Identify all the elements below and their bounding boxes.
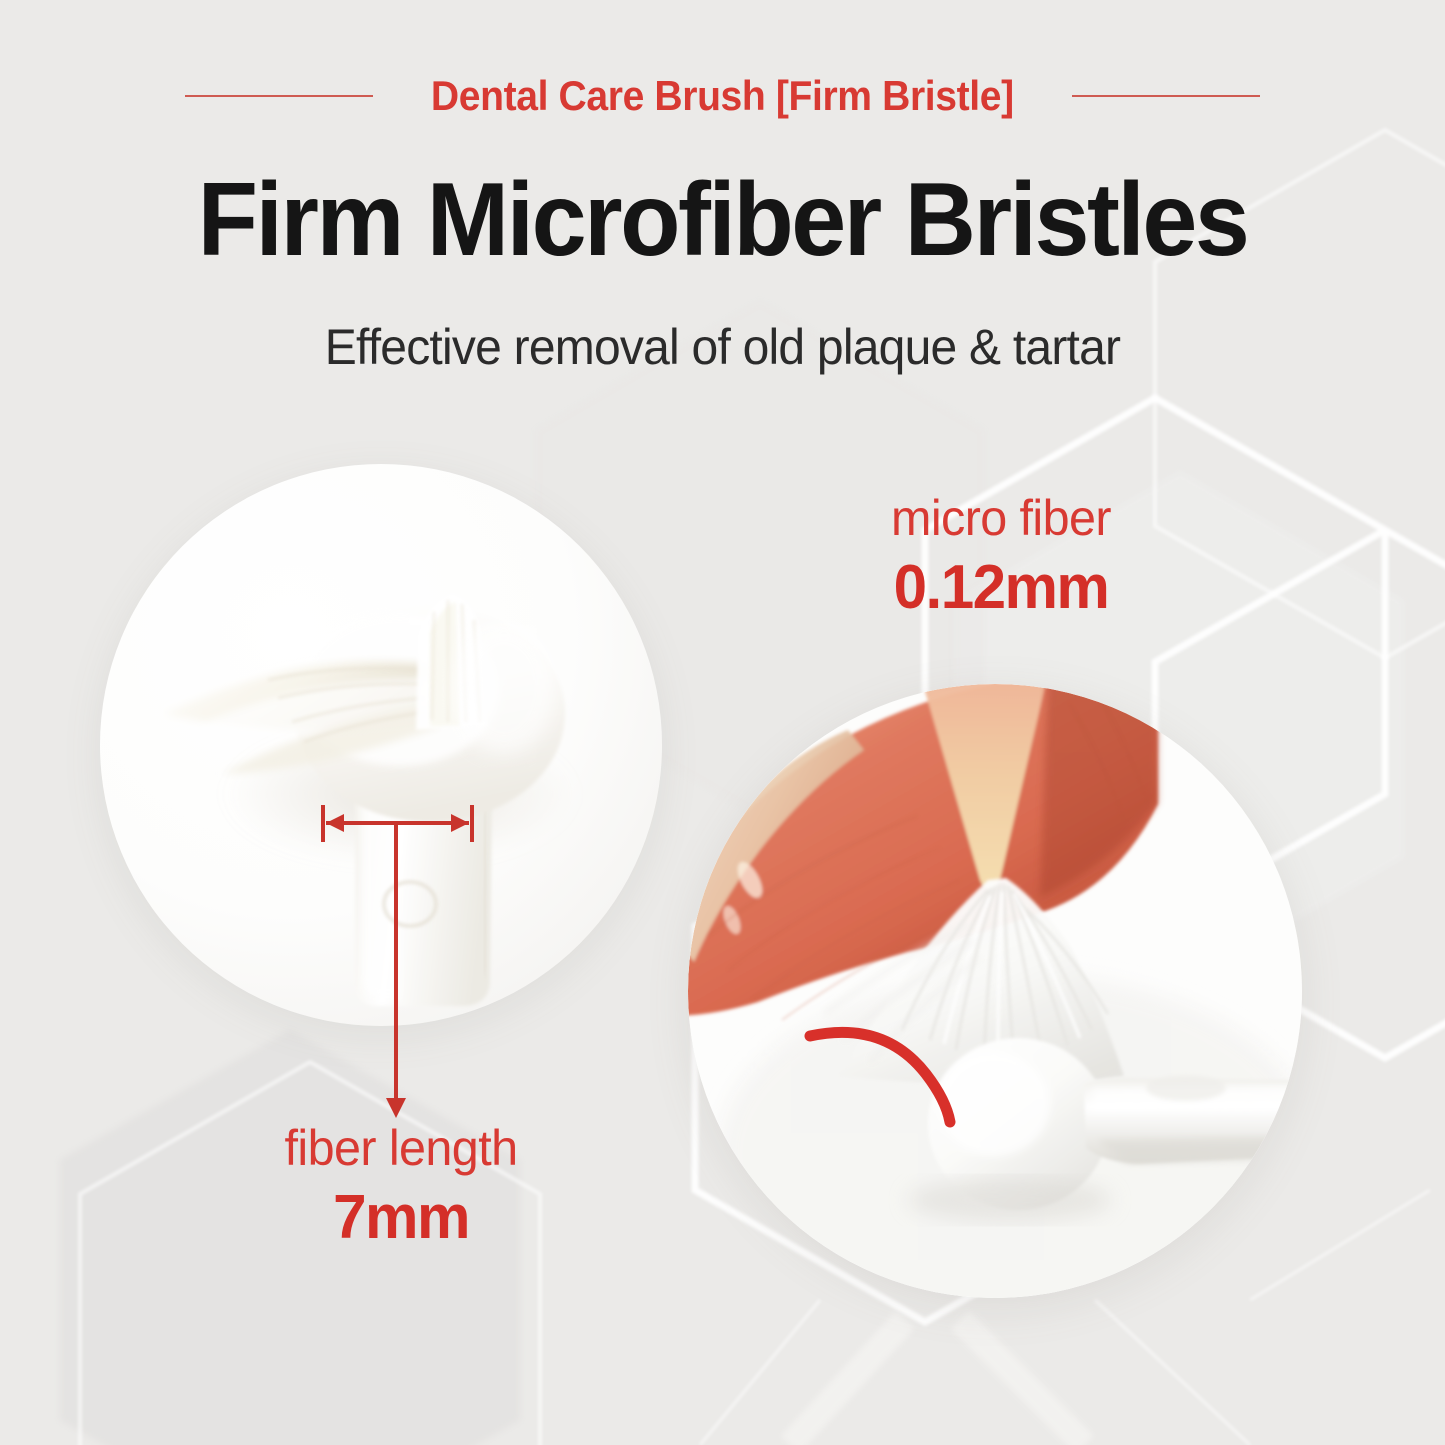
eyebrow-header: Dental Care Brush [Firm Bristle]: [0, 72, 1445, 120]
eyebrow-label: Dental Care Brush [Firm Bristle]: [431, 72, 1014, 120]
eyebrow-rule-left: [185, 95, 373, 97]
callout-micro-fiber-title: micro fiber: [841, 492, 1161, 544]
finger-pressing-bristles-illustration: [688, 684, 1302, 1298]
callout-fiber-length-value: 7mm: [241, 1184, 561, 1252]
callout-micro-fiber-value: 0.12mm: [841, 554, 1161, 622]
page-title: Firm Microfiber Bristles: [36, 166, 1409, 274]
callout-micro-fiber: micro fiber 0.12mm: [836, 492, 1166, 622]
eyebrow-rule-right: [1072, 95, 1260, 97]
finger-press-photo: [688, 684, 1302, 1298]
page-subtitle: Effective removal of old plaque & tartar: [29, 318, 1416, 376]
brush-head-photo: [100, 464, 662, 1026]
callout-fiber-length-title: fiber length: [241, 1122, 561, 1174]
toothbrush-head-illustration: [100, 464, 662, 1026]
arrow-head-down-icon: [386, 1098, 406, 1118]
callout-fiber-length: fiber length 7mm: [236, 1122, 566, 1252]
